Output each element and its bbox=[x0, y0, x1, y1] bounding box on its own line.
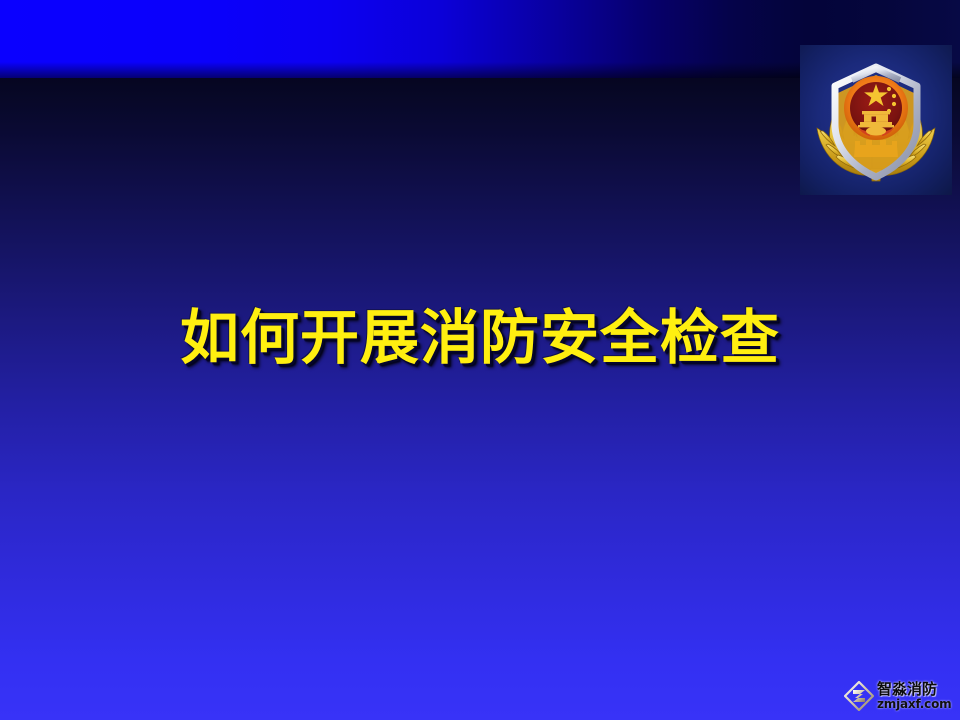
watermark-url: zmjaxf.com bbox=[877, 698, 951, 710]
emblem-plate bbox=[800, 45, 952, 195]
china-police-fire-emblem-icon bbox=[810, 53, 942, 187]
presentation-slide: 如何开展消防安全检查 智淼消防 zmjaxf.com bbox=[0, 0, 960, 720]
zmjaxf-z-logo-icon bbox=[844, 681, 874, 711]
watermark-text: 智淼消防 zmjaxf.com bbox=[877, 682, 951, 710]
watermark-brand: 智淼消防 bbox=[877, 682, 951, 697]
watermark: 智淼消防 zmjaxf.com bbox=[844, 676, 956, 716]
